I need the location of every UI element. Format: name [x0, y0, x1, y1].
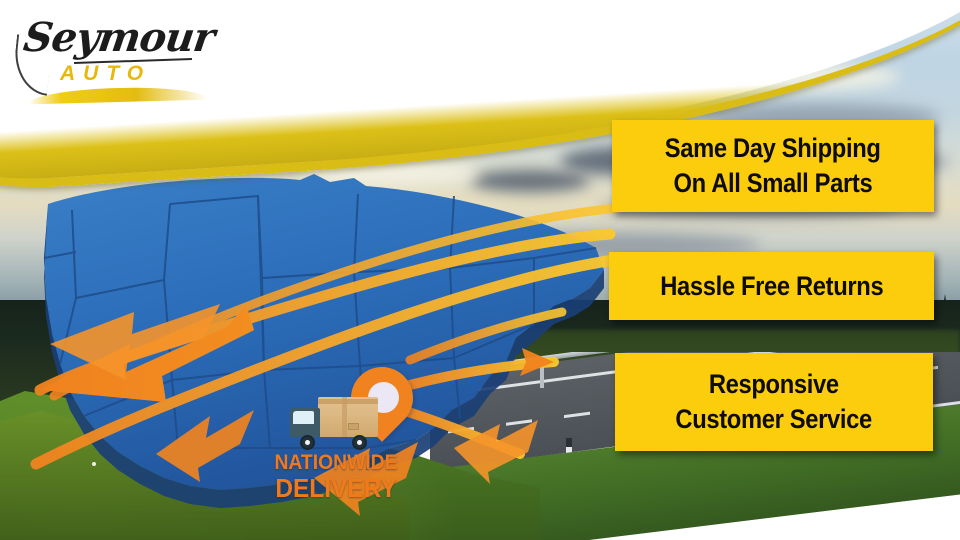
- nationwide-text: NATIONWIDE: [272, 452, 401, 473]
- callout-same-day-shipping[interactable]: Same Day Shipping On All Small Parts: [612, 120, 934, 212]
- truck-wheel: [352, 435, 367, 450]
- delivery-truck-icon: [286, 397, 378, 455]
- us-map-graphic: NATIONWIDE DELIVERY: [14, 148, 624, 516]
- callout-line: Customer Service: [676, 402, 872, 437]
- callout-hassle-free-returns[interactable]: Hassle Free Returns: [609, 252, 934, 320]
- callout-responsive-customer-service[interactable]: Responsive Customer Service: [615, 353, 933, 451]
- callout-line: Hassle Free Returns: [660, 270, 883, 302]
- callout-line: Responsive: [709, 367, 839, 402]
- logo-script-text: Seymour: [21, 14, 217, 61]
- seymour-auto-logo[interactable]: Seymour AUTO: [14, 14, 214, 98]
- callout-line: On All Small Parts: [674, 166, 873, 201]
- truck-wheel: [300, 435, 315, 450]
- nationwide-delivery-label: NATIONWIDE DELIVERY: [266, 452, 406, 501]
- callout-line: Same Day Shipping: [665, 131, 881, 166]
- delivery-text: DELIVERY: [270, 475, 402, 501]
- promo-banner: NATIONWIDE DELIVERY Seymour AUTO Same Da…: [0, 0, 960, 540]
- logo-auto-text: AUTO: [60, 62, 151, 86]
